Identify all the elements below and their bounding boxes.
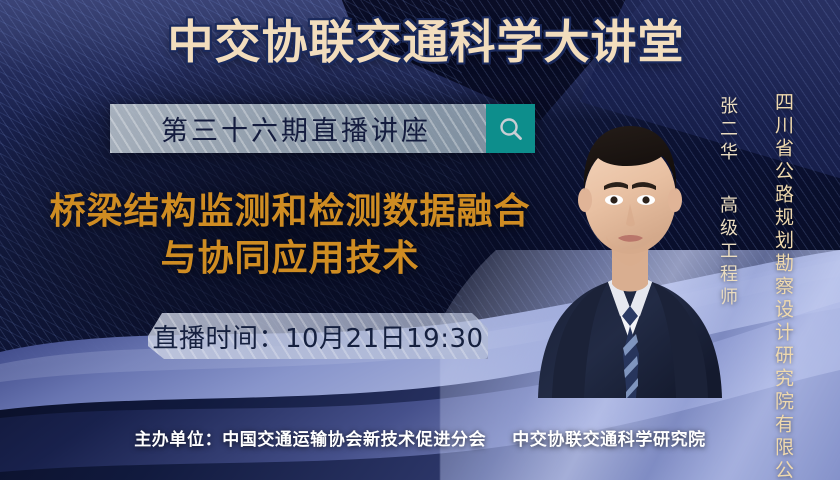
lecture-topic: 桥梁结构监测和检测数据融合 与协同应用技术 bbox=[30, 188, 550, 282]
speaker-title: 高级工程师 bbox=[714, 195, 740, 310]
organizer-secondary: 中交协联交通科学研究院 bbox=[512, 430, 706, 450]
speaker-organization: 四川省公路规划勘察设计研究院有限公司 bbox=[770, 92, 797, 480]
episode-label: 第三十六期直播讲座 bbox=[161, 109, 435, 148]
organizer-primary: 中国交通运输协会新技术促进分会 bbox=[222, 430, 486, 450]
episode-banner-body: 第三十六期直播讲座 bbox=[110, 104, 486, 153]
search-button[interactable] bbox=[486, 104, 535, 153]
speaker-portrait bbox=[524, 58, 736, 398]
pupil-left bbox=[610, 196, 617, 203]
broadcast-time-badge: 直播时间：10月21日19:30 bbox=[148, 313, 488, 359]
organizer-prefix: 主办单位： bbox=[134, 430, 222, 450]
webinar-poster: 中交协联交通科学大讲堂 第三十六期直播讲座 桥梁结构监测和检测数据融合 与协同应… bbox=[0, 0, 840, 480]
ear-left bbox=[578, 188, 592, 212]
ear-right bbox=[668, 188, 682, 212]
speaker-name: 张二华 bbox=[714, 96, 740, 165]
topic-line-2: 与协同应用技术 bbox=[30, 235, 550, 282]
pupil-right bbox=[642, 196, 649, 203]
organizer-footer: 主办单位：中国交通运输协会新技术促进分会中交协联交通科学研究院 bbox=[0, 425, 840, 450]
broadcast-time-text: 直播时间：10月21日19:30 bbox=[152, 318, 483, 355]
page-title: 中交协联交通科学大讲堂 bbox=[0, 14, 840, 70]
episode-banner: 第三十六期直播讲座 bbox=[110, 104, 535, 153]
search-icon bbox=[497, 115, 525, 143]
topic-line-1: 桥梁结构监测和检测数据融合 bbox=[49, 191, 530, 232]
portrait-illustration bbox=[524, 58, 736, 398]
